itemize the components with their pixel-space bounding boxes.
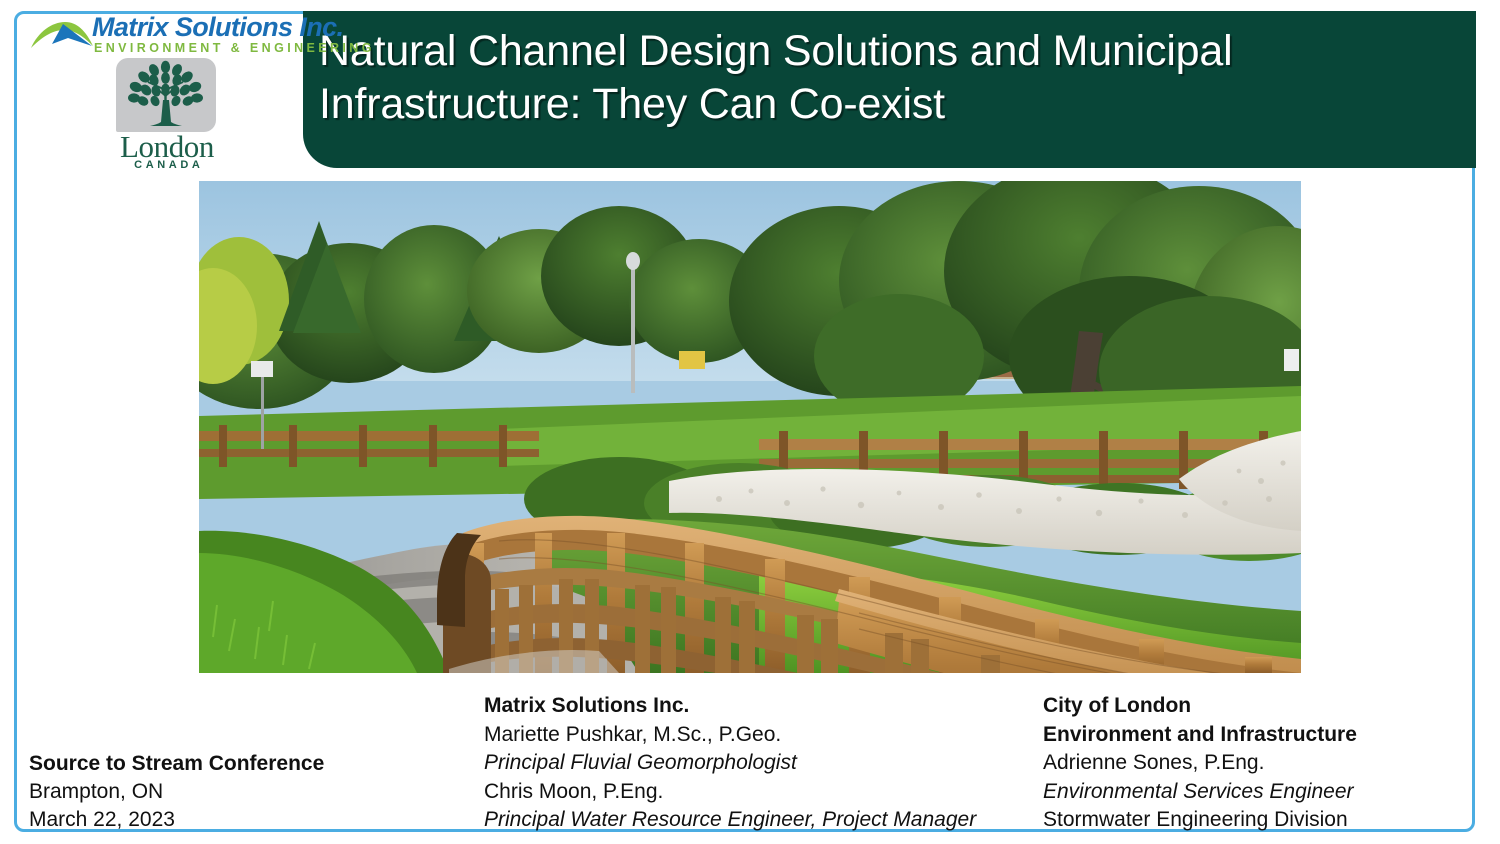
matrix-solutions-logo: Matrix Solutions Inc. ENVIRONMENT & ENGI… [30, 14, 298, 58]
tree-icon [124, 60, 208, 132]
matrix-presenter-2: Chris Moon, P.Eng. [484, 778, 976, 807]
matrix-org-name: Matrix Solutions Inc. [484, 692, 976, 721]
title-photo [199, 181, 1301, 673]
conference-location: Brampton, ON [29, 778, 324, 806]
photo-illustration [199, 181, 1301, 673]
city-division: Stormwater Engineering Division [1043, 806, 1357, 835]
conference-info: Source to Stream Conference Brampton, ON… [29, 750, 324, 834]
page-title: Natural Channel Design Solutions and Mun… [319, 25, 1439, 131]
city-presenter-1-role: Environmental Services Engineer [1043, 778, 1357, 807]
matrix-tagline: ENVIRONMENT & ENGINEERING [94, 41, 375, 55]
matrix-presenters: Matrix Solutions Inc. Mariette Pushkar, … [484, 692, 976, 835]
matrix-swoosh-icon [30, 20, 94, 50]
matrix-presenter-2-role: Principal Water Resource Engineer, Proje… [484, 806, 976, 835]
london-canada-label: CANADA [110, 159, 224, 171]
matrix-presenter-1: Mariette Pushkar, M.Sc., P.Geo. [484, 721, 976, 750]
london-wordmark: London [110, 131, 224, 162]
city-presenter-1: Adrienne Sones, P.Eng. [1043, 749, 1357, 778]
city-department: Environment and Infrastructure [1043, 721, 1357, 750]
conference-date: March 22, 2023 [29, 806, 324, 834]
presentation-slide: Natural Channel Design Solutions and Mun… [0, 0, 1500, 844]
city-org-name: City of London [1043, 692, 1357, 721]
title-banner: Natural Channel Design Solutions and Mun… [303, 11, 1476, 168]
conference-name: Source to Stream Conference [29, 750, 324, 778]
city-presenters: City of London Environment and Infrastru… [1043, 692, 1357, 835]
city-of-london-logo: London CANADA [110, 58, 224, 170]
matrix-wordmark: Matrix Solutions Inc. [92, 12, 343, 43]
matrix-presenter-1-role: Principal Fluvial Geomorphologist [484, 749, 976, 778]
